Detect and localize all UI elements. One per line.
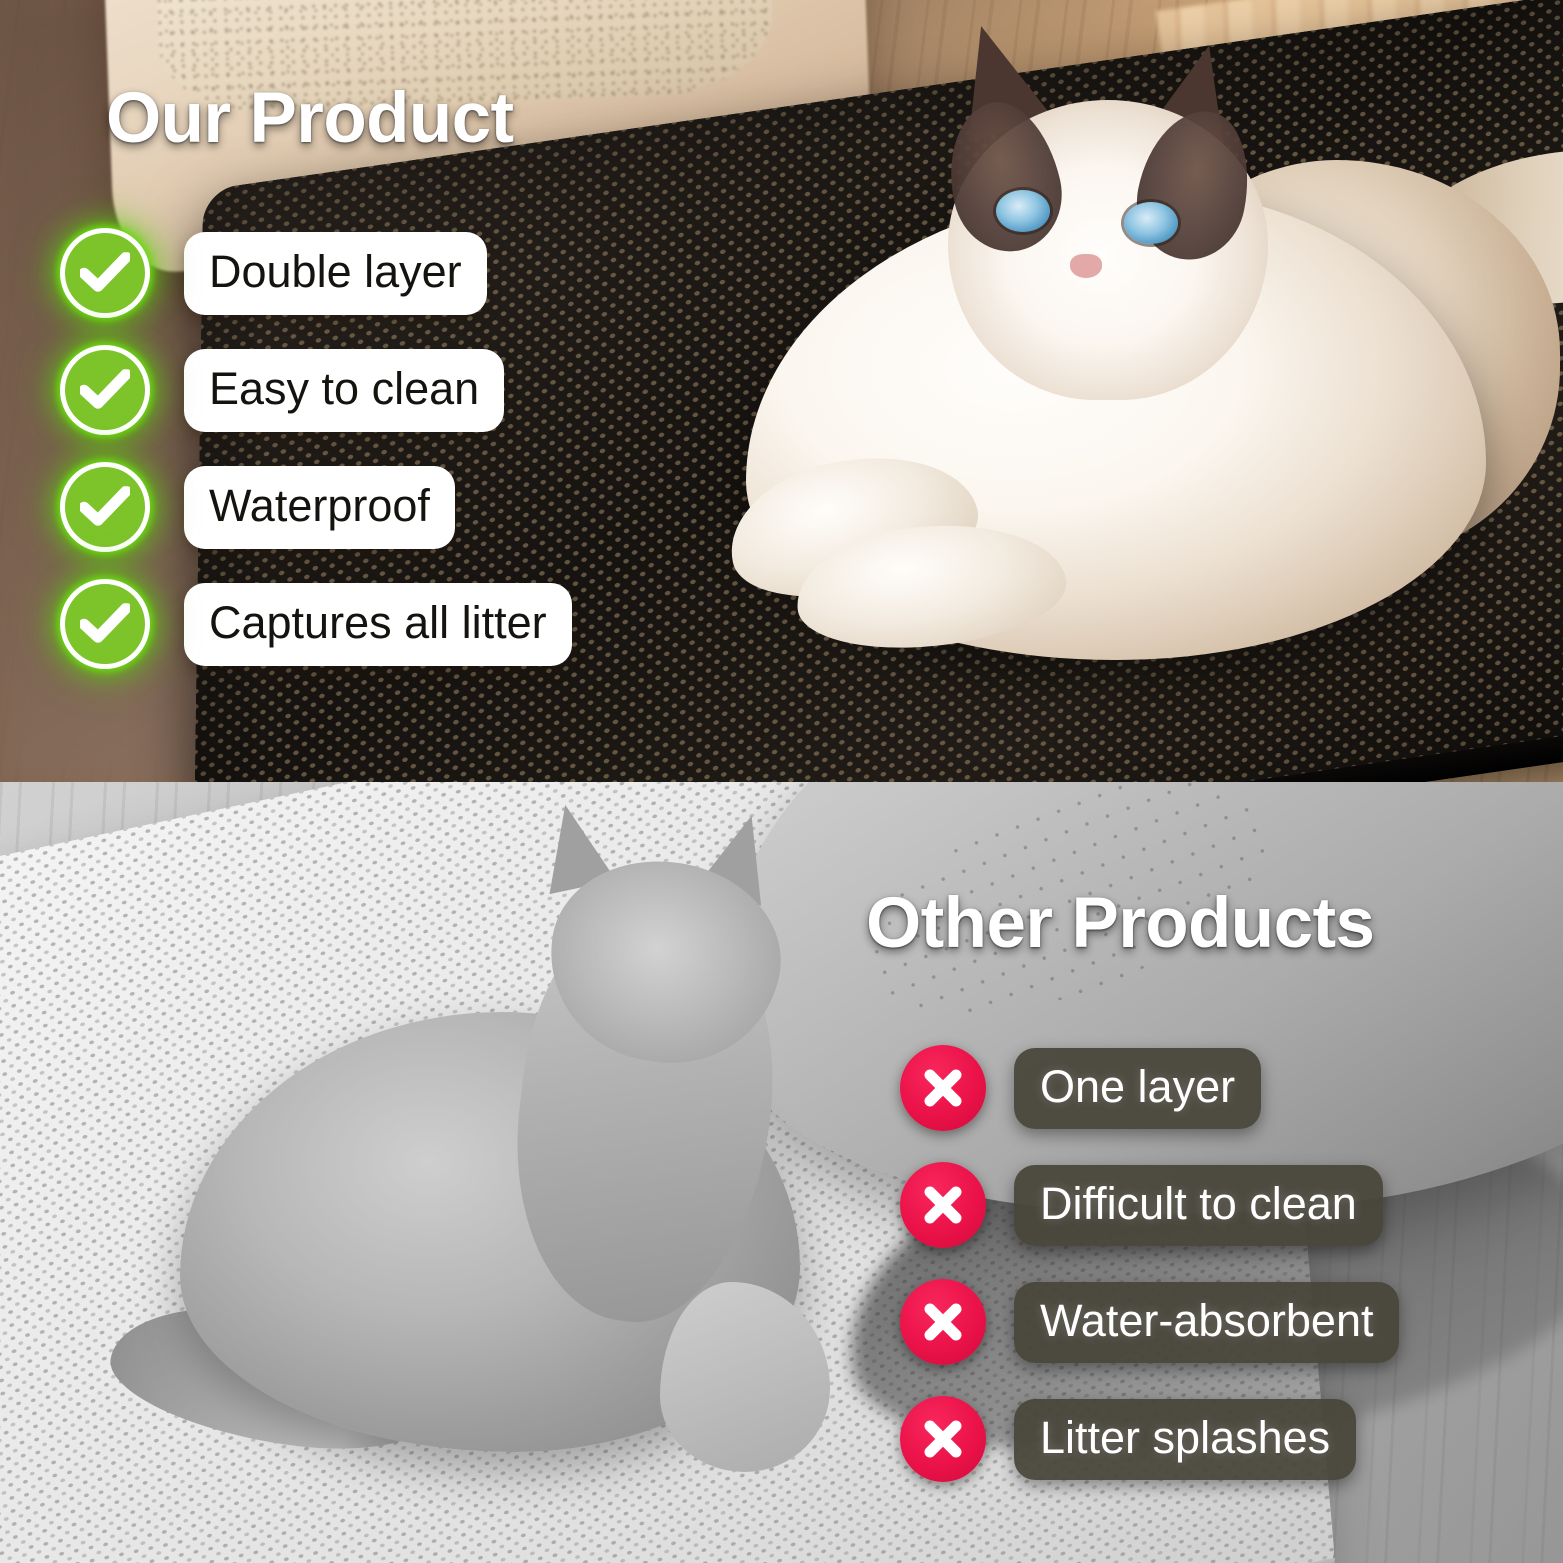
feature-pill: Waterproof	[184, 466, 455, 549]
gray-tabby-cat	[120, 812, 920, 1552]
check-icon	[60, 228, 150, 318]
cat-eye-left	[996, 190, 1050, 232]
cat-nose	[1070, 254, 1102, 278]
product-comparison-poster: Our Product Double layer Easy to clean	[0, 0, 1563, 1563]
feature-row: Easy to clean	[60, 345, 572, 435]
feature-row: Double layer	[60, 228, 572, 318]
other-products-title: Other Products	[866, 888, 1374, 959]
feature-row: Waterproof	[60, 462, 572, 552]
feature-pill: Easy to clean	[184, 349, 504, 432]
feature-pill: Double layer	[184, 232, 487, 315]
close-icon	[900, 1279, 986, 1365]
ragdoll-cat	[700, 40, 1563, 700]
close-icon	[900, 1396, 986, 1482]
our-product-feature-list: Double layer Easy to clean Waterproof	[60, 228, 572, 669]
our-product-panel: Our Product Double layer Easy to clean	[0, 0, 1563, 782]
feature-pill: Difficult to clean	[1014, 1165, 1383, 1246]
other-products-feature-list: One layer Difficult to clean Water-absor…	[900, 1043, 1399, 1484]
check-icon	[60, 579, 150, 669]
cat-eye-right	[1124, 202, 1178, 244]
check-icon	[60, 462, 150, 552]
feature-row: Difficult to clean	[900, 1160, 1399, 1250]
check-icon	[60, 345, 150, 435]
feature-row: Captures all litter	[60, 579, 572, 669]
feature-pill: One layer	[1014, 1048, 1261, 1129]
feature-row: Water-absorbent	[900, 1277, 1399, 1367]
cat-front-leg	[660, 1282, 830, 1472]
feature-pill: Water-absorbent	[1014, 1282, 1399, 1363]
feature-pill: Litter splashes	[1014, 1399, 1356, 1480]
close-icon	[900, 1162, 986, 1248]
feature-pill: Captures all litter	[184, 583, 572, 666]
feature-row: One layer	[900, 1043, 1399, 1133]
our-product-title: Our Product	[106, 83, 514, 154]
feature-row: Litter splashes	[900, 1394, 1399, 1484]
close-icon	[900, 1045, 986, 1131]
